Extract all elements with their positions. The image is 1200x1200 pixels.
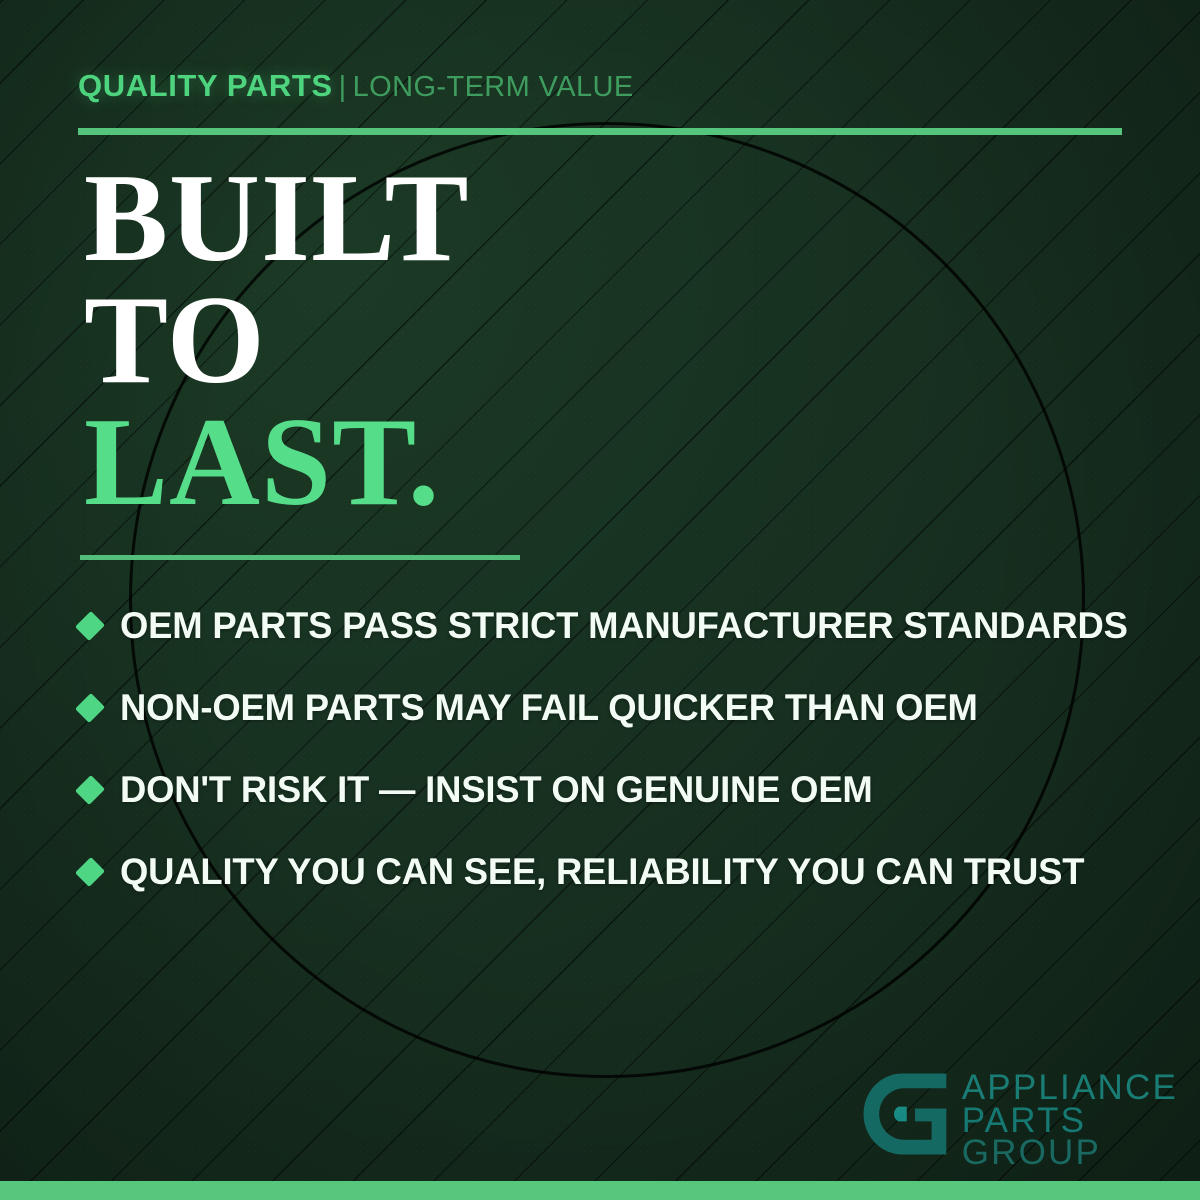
kicker: QUALITY PARTS|LONG-TERM VALUE	[78, 70, 634, 102]
poster-canvas: QUALITY PARTS|LONG-TERM VALUE BUILT TO L…	[0, 0, 1200, 1200]
brand-logo: APPLIANCE PARTS GROUP	[858, 1068, 1178, 1170]
brand-logo-wordmark: APPLIANCE PARTS GROUP	[962, 1068, 1178, 1170]
bottom-accent-bar	[0, 1181, 1200, 1200]
list-item: DON'T RISK IT — INSIST ON GENUINE OEM	[80, 749, 1140, 831]
kicker-main-text: QUALITY PARTS	[78, 68, 333, 103]
list-item-label: DON'T RISK IT — INSIST ON GENUINE OEM	[120, 769, 873, 811]
headline-divider	[80, 555, 520, 560]
list-item-label: QUALITY YOU CAN SEE, RELIABILITY YOU CAN…	[120, 851, 1084, 893]
diamond-bullet-icon	[75, 857, 105, 887]
list-item-label: OEM PARTS PASS STRICT MANUFACTURER STAND…	[120, 605, 1128, 647]
kicker-separator: |	[339, 71, 347, 103]
list-item: QUALITY YOU CAN SEE, RELIABILITY YOU CAN…	[80, 831, 1140, 913]
list-item-label: NON-OEM PARTS MAY FAIL QUICKER THAN OEM	[120, 687, 978, 729]
headline-line-1: BUILT	[84, 158, 470, 280]
list-item: NON-OEM PARTS MAY FAIL QUICKER THAN OEM	[80, 667, 1140, 749]
diamond-bullet-icon	[75, 611, 105, 641]
headline-line-3: LAST.	[84, 402, 470, 524]
letter-g-monogram-icon	[858, 1068, 950, 1160]
page-title: BUILT TO LAST.	[84, 158, 470, 525]
poster-content: QUALITY PARTS|LONG-TERM VALUE BUILT TO L…	[0, 0, 1200, 1200]
headline-line-2: TO	[84, 280, 470, 402]
kicker-sub-text: LONG-TERM VALUE	[353, 71, 634, 103]
diamond-bullet-icon	[75, 693, 105, 723]
diamond-bullet-icon	[75, 775, 105, 805]
header-divider	[78, 128, 1122, 135]
list-item: OEM PARTS PASS STRICT MANUFACTURER STAND…	[80, 585, 1140, 667]
logo-word-group: GROUP	[962, 1137, 1178, 1170]
benefit-list: OEM PARTS PASS STRICT MANUFACTURER STAND…	[80, 585, 1140, 913]
